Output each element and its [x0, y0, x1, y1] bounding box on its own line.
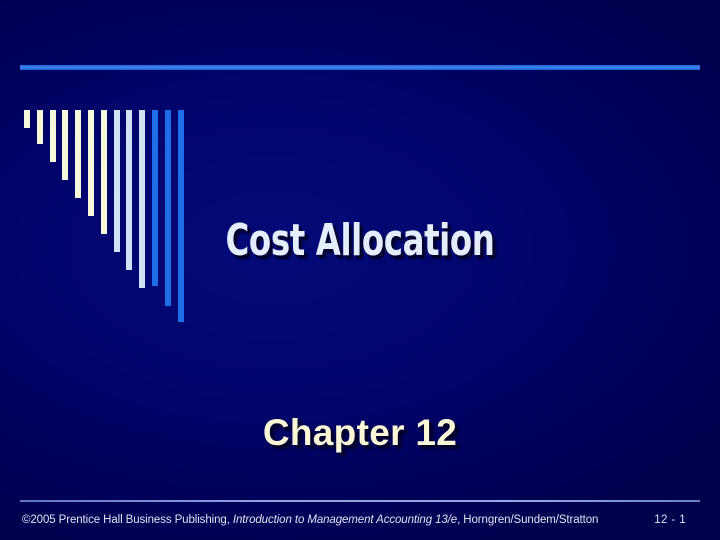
decorative-bar: [88, 110, 94, 216]
decorative-bar: [50, 110, 56, 162]
decorative-bar: [165, 110, 171, 306]
page-number: 12 - 1: [654, 514, 686, 526]
credit-prefix: ©2005 Prentice Hall Business Publishing,: [22, 514, 233, 526]
decorative-bar: [37, 110, 43, 144]
chapter-subtitle: Chapter 12: [0, 412, 720, 454]
decorative-bar: [62, 110, 68, 180]
copyright-credit: ©2005 Prentice Hall Business Publishing,…: [22, 514, 598, 526]
decorative-bar: [75, 110, 81, 198]
credit-suffix: , Horngren/Sundem/Stratton: [457, 514, 598, 526]
book-title: Introduction to Management Accounting 13…: [233, 514, 457, 526]
top-divider-rule: [20, 65, 700, 70]
slide-footer: ©2005 Prentice Hall Business Publishing,…: [22, 510, 698, 530]
presentation-slide: Cost Allocation Chapter 12 ©2005 Prentic…: [0, 0, 720, 540]
bottom-divider-rule: [20, 500, 700, 502]
decorative-bar: [24, 110, 30, 128]
page-title: Cost Allocation: [65, 215, 655, 266]
